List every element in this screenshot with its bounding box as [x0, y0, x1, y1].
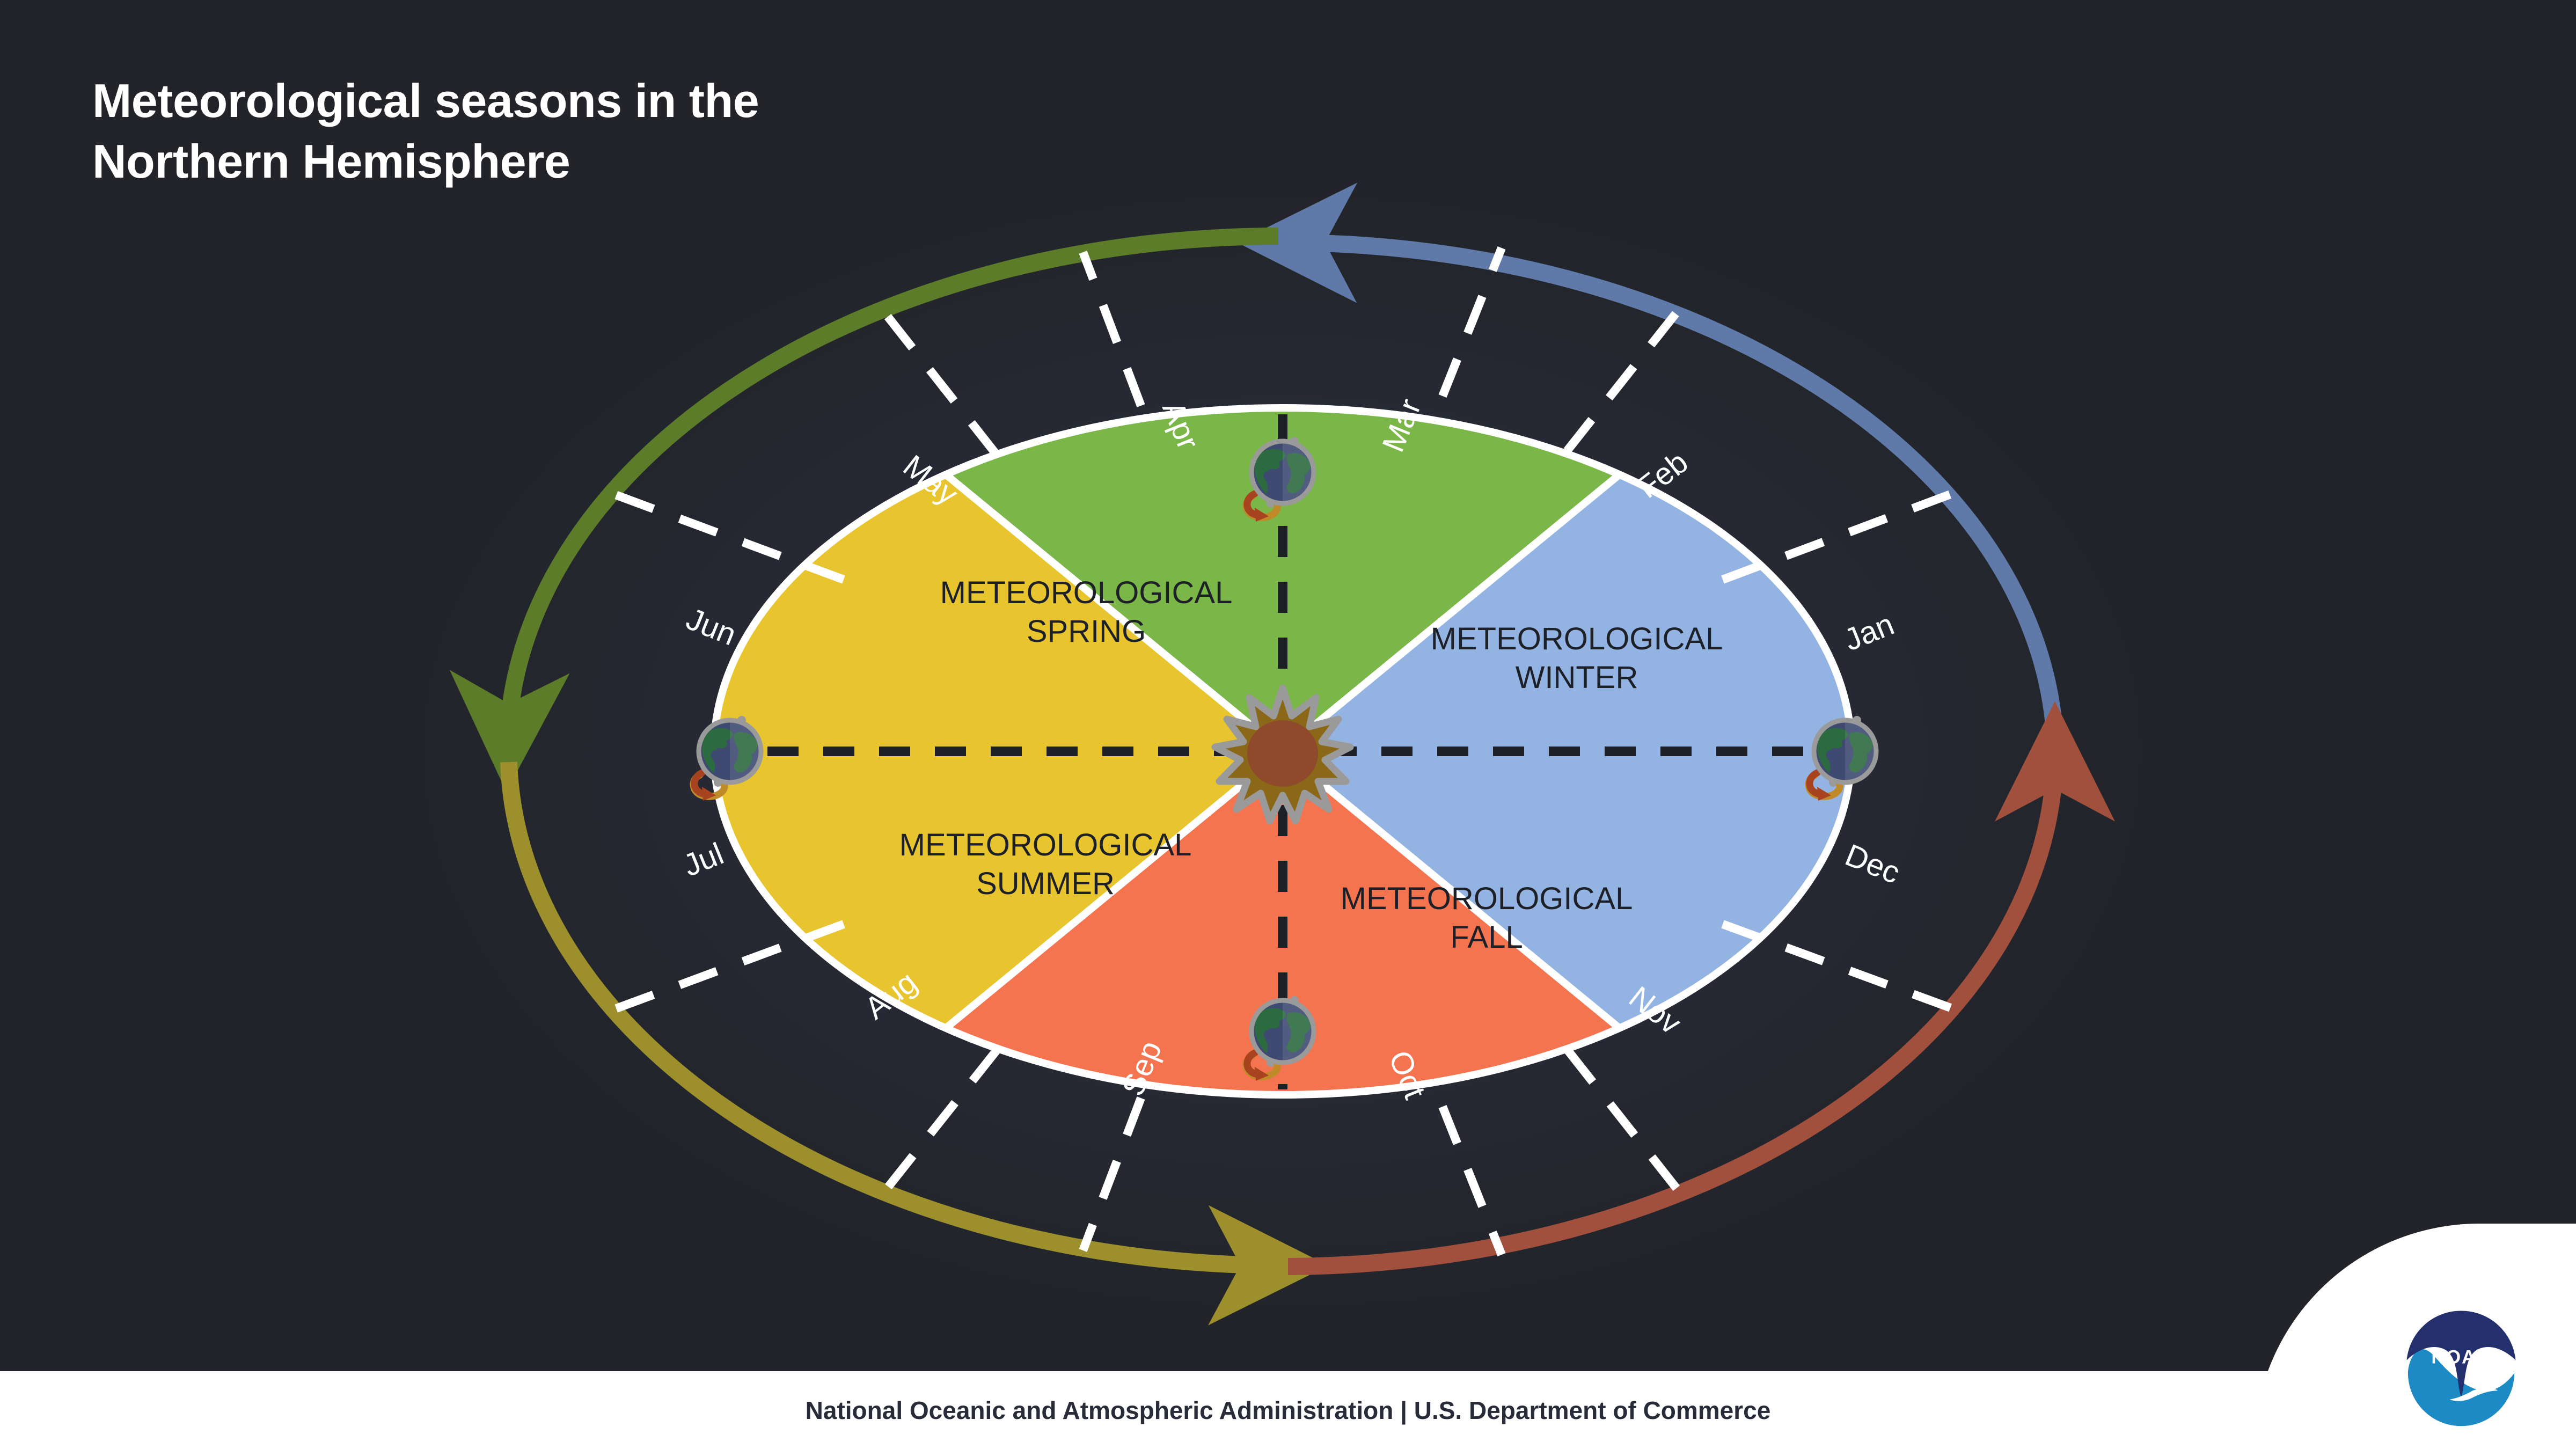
month-label-jan: Jan [1839, 606, 1899, 657]
season-label-summer-line2: SUMMER [976, 866, 1115, 901]
season-label-winter-line2: WINTER [1516, 660, 1638, 695]
season-label-spring-line2: SPRING [1027, 614, 1146, 649]
spoke-feb [1567, 304, 1684, 451]
spoke-dec [1723, 924, 1953, 1009]
month-label-dec: Dec [1840, 837, 1905, 890]
season-label-summer-line1: METEOROLOGICAL [899, 828, 1192, 862]
month-label-jul: Jul [678, 836, 728, 883]
season-label-fall-line2: FALL [1450, 920, 1523, 955]
spoke-jun [616, 495, 844, 580]
season-label-fall-line1: METEOROLOGICAL [1341, 881, 1633, 916]
slide-canvas: Meteorological seasons in the Northern H… [0, 0, 2576, 1449]
earth-solstice-december [1809, 720, 1876, 801]
season-label-winter-line1: METEOROLOGICAL [1431, 621, 1723, 656]
spoke-oct [1443, 1107, 1502, 1255]
wedge-winter [1283, 0, 2463, 1371]
footer-attribution: National Oceanic and Atmospheric Adminis… [0, 1371, 2576, 1449]
footer-attribution-text: National Oceanic and Atmospheric Adminis… [806, 1396, 1771, 1425]
spoke-nov [1568, 1051, 1684, 1198]
spoke-jul [615, 924, 844, 1009]
spoke-sep [1083, 1098, 1141, 1250]
month-label-jun: Jun [682, 601, 741, 652]
noaa-logo-wordmark: NOAA [2431, 1346, 2491, 1367]
spoke-mar [1443, 248, 1502, 396]
spoke-apr [1083, 252, 1141, 406]
spoke-aug [881, 1050, 997, 1196]
wedge-summer [102, 0, 1283, 1371]
noaa-logo: NOAA [2398, 1302, 2524, 1429]
season-label-spring-line1: METEOROLOGICAL [940, 575, 1233, 610]
logo-corner: NOAA [2254, 1224, 2576, 1449]
spoke-may [880, 307, 996, 454]
seasons-orbit-diagram: METEOROLOGICAL SPRING METEOROLOGICAL WIN… [0, 0, 2576, 1371]
spoke-jan [1723, 494, 1952, 580]
